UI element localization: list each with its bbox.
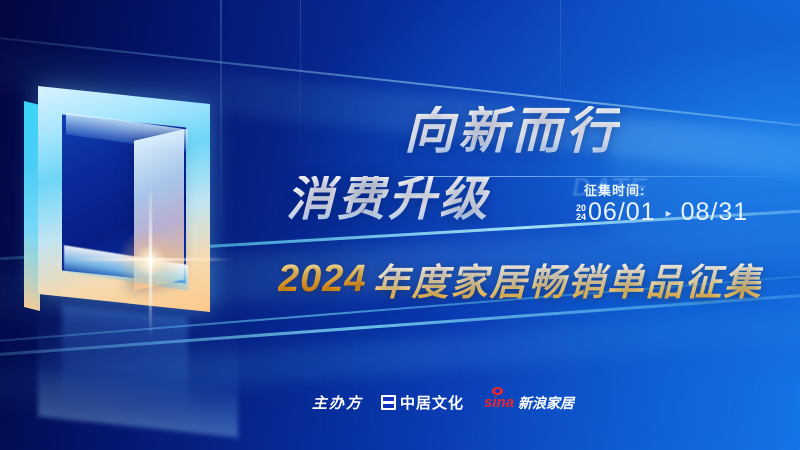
sponsor-sina: sina 新浪家居 xyxy=(484,393,574,413)
collection-date-block: DATE 征集时间: 20 24 06/01 ▸ 08/31 xyxy=(574,176,789,232)
campaign-title-text: 年度家居畅销单品征集 xyxy=(373,252,763,306)
promo-banner: 向新而行 消费升级 DATE 征集时间: 20 24 06/01 ▸ 08/31… xyxy=(0,0,800,450)
vertical-light-line xyxy=(300,0,301,170)
vertical-light-line xyxy=(560,0,561,120)
portal-reflection xyxy=(38,296,238,437)
date-end: 08/31 xyxy=(681,198,749,227)
sponsor-sina-name: 新浪家居 xyxy=(518,393,574,413)
sponsor-zhongju-name: 中居文化 xyxy=(400,392,464,413)
date-range-row: 20 24 06/01 ▸ 08/31 xyxy=(576,198,748,227)
date-start: 06/01 xyxy=(588,198,656,227)
campaign-year: 2024 xyxy=(278,258,367,301)
date-label: 征集时间: xyxy=(584,180,645,199)
zhongju-logo-icon xyxy=(381,395,396,410)
campaign-title: 2024 年度家居畅销单品征集 xyxy=(278,258,763,300)
sponsor-zhongju: 中居文化 xyxy=(381,392,464,413)
sina-eye-icon xyxy=(492,387,503,395)
sponsor-label: 主办方 xyxy=(312,392,363,413)
background-glow xyxy=(330,330,800,450)
star-flare-horizontal xyxy=(72,258,232,261)
date-year: 20 24 xyxy=(576,204,586,222)
door-portal-icon xyxy=(38,95,238,325)
date-range-arrow-icon: ▸ xyxy=(666,206,672,220)
headline-primary: 向新而行 xyxy=(404,106,620,156)
date-year-bottom: 24 xyxy=(576,213,586,222)
sponsor-row: 主办方 中居文化 sina 新浪家居 xyxy=(312,392,574,413)
sina-wordmark: sina xyxy=(484,394,514,411)
headline-secondary: 消费升级 xyxy=(286,176,490,224)
